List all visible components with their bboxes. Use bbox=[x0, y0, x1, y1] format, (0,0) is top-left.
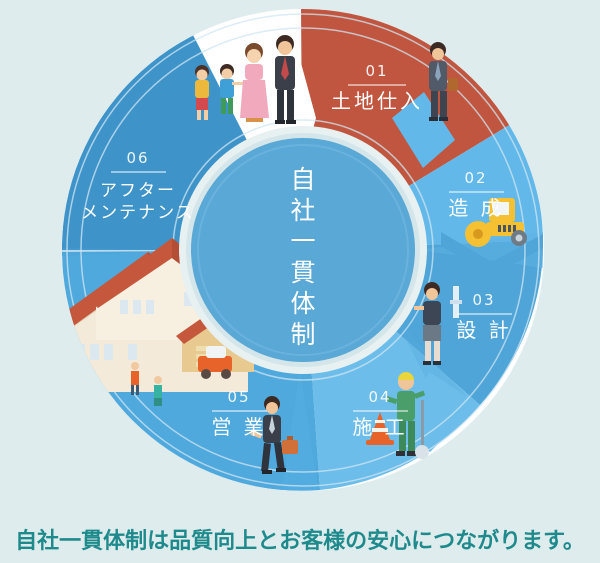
center-char-5: 制 bbox=[290, 320, 315, 349]
segment-04-label: 施 工 bbox=[352, 415, 407, 439]
segment-05-number: 05 bbox=[227, 388, 250, 406]
segment-02-label: 造 成 bbox=[448, 196, 503, 220]
segment-06-number: 06 bbox=[126, 149, 149, 167]
caption-text: 自社一貫体制は品質向上とお客様の安心につながります。 bbox=[0, 523, 600, 555]
infographic-canvas: 自 社 一 貫 体 制 01 土地仕入 02 造 成 03 設 計 04 施 工… bbox=[0, 0, 600, 563]
segment-01-label: 土地仕入 bbox=[331, 89, 423, 113]
center-char-1: 社 bbox=[290, 196, 315, 225]
center-char-4: 体 bbox=[290, 289, 315, 318]
segment-03-label: 設 計 bbox=[456, 318, 511, 342]
segment-01-number: 01 bbox=[365, 62, 388, 80]
cycle-wheel: 自 社 一 貫 体 制 01 土地仕入 02 造 成 03 設 計 04 施 工… bbox=[0, 0, 600, 563]
segment-05-label: 営 業 bbox=[211, 415, 266, 439]
segment-06-label-line2: メンテナンス bbox=[81, 203, 195, 223]
center-char-0: 自 bbox=[290, 165, 315, 194]
segment-06-label-line1: アフター bbox=[100, 181, 176, 201]
segment-03-number: 03 bbox=[472, 291, 495, 309]
segment-02-number: 02 bbox=[464, 169, 487, 187]
center-char-3: 貫 bbox=[290, 258, 315, 287]
segment-04-number: 04 bbox=[368, 388, 391, 406]
center-char-2: 一 bbox=[290, 227, 315, 256]
